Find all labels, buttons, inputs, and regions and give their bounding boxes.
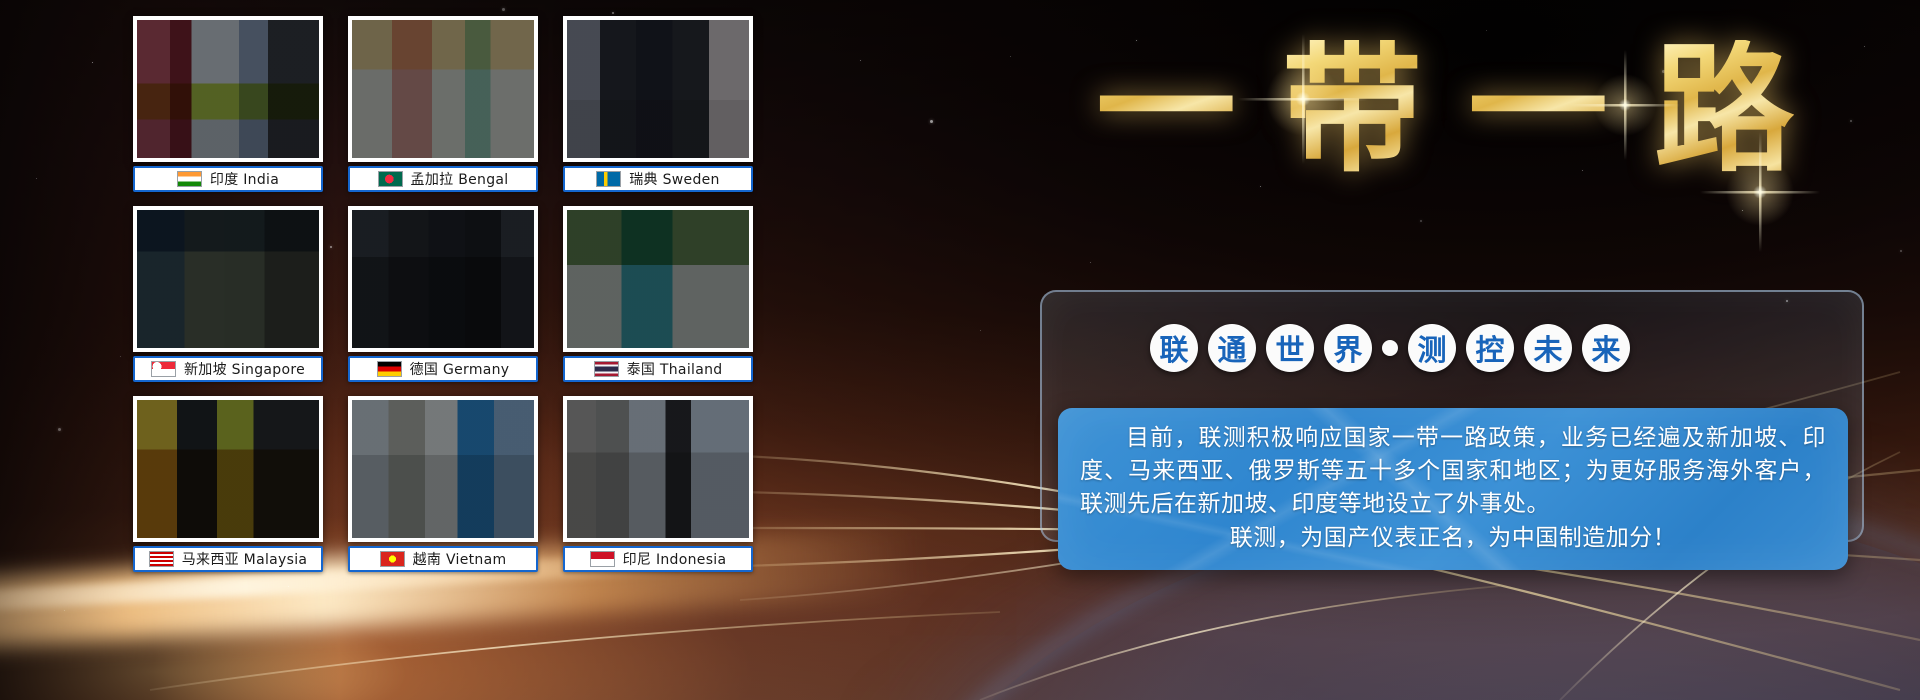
paragraph-1: 目前，联测积极响应国家一带一路政策，业务已经遍及新加坡、印度、马来西亚、俄罗斯等… — [1080, 422, 1826, 521]
photo-image — [567, 400, 749, 538]
headline-char-1: 一 — [1096, 40, 1236, 180]
partner-photo[interactable] — [563, 396, 753, 542]
partner-photo-grid: 印度 India孟加拉 Bengal瑞典 Sweden新加坡 Singapore… — [133, 16, 753, 584]
flag-malaysia-icon — [149, 551, 174, 567]
slogan-char-2: 通 — [1208, 324, 1256, 372]
flag-singapore-icon — [151, 361, 176, 377]
slogan-char-5: 测 — [1408, 324, 1456, 372]
slogan-char-3: 世 — [1266, 324, 1314, 372]
gallery-item[interactable]: 新加坡 Singapore — [133, 206, 323, 384]
company-slogan: 联通世界测控未来 — [1150, 324, 1630, 372]
photo-image — [567, 20, 749, 158]
country-caption-label: 新加坡 Singapore — [184, 359, 305, 379]
photo-image — [352, 20, 534, 158]
country-caption-label: 越南 Vietnam — [413, 549, 507, 569]
partner-photo[interactable] — [563, 206, 753, 352]
gallery-item[interactable]: 印度 India — [133, 16, 323, 194]
country-caption-label: 瑞典 Sweden — [629, 169, 719, 189]
gallery-item[interactable]: 孟加拉 Bengal — [348, 16, 538, 194]
photo-image — [567, 210, 749, 348]
gallery-item[interactable]: 越南 Vietnam — [348, 396, 538, 574]
photo-image — [352, 400, 534, 538]
country-caption-label: 德国 Germany — [410, 359, 510, 379]
flag-india-icon — [177, 171, 202, 187]
partner-photo[interactable] — [348, 16, 538, 162]
photo-image — [137, 20, 319, 158]
partner-photo[interactable] — [133, 206, 323, 352]
info-panel-blue: 目前，联测积极响应国家一带一路政策，业务已经遍及新加坡、印度、马来西亚、俄罗斯等… — [1058, 408, 1848, 570]
flag-germany-icon — [377, 361, 402, 377]
gallery-item[interactable]: 马来西亚 Malaysia — [133, 396, 323, 574]
slogan-char-1: 联 — [1150, 324, 1198, 372]
headline-char-3: 一 — [1468, 40, 1608, 180]
gallery-item[interactable]: 瑞典 Sweden — [563, 16, 753, 194]
info-panel-text: 目前，联测积极响应国家一带一路政策，业务已经遍及新加坡、印度、马来西亚、俄罗斯等… — [1080, 422, 1826, 555]
country-caption-label: 印尼 Indonesia — [623, 549, 727, 569]
flag-bangladesh-icon — [378, 171, 403, 187]
photo-image — [352, 210, 534, 348]
partner-photo[interactable] — [348, 396, 538, 542]
gallery-item[interactable]: 印尼 Indonesia — [563, 396, 753, 574]
partner-photo[interactable] — [133, 396, 323, 542]
country-caption[interactable]: 马来西亚 Malaysia — [133, 546, 323, 572]
headline-belt-and-road: 一 带 一 路 — [1010, 10, 1880, 210]
country-caption[interactable]: 印尼 Indonesia — [563, 546, 753, 572]
photo-image — [137, 400, 319, 538]
headline-char-2: 带 — [1282, 40, 1422, 180]
country-caption[interactable]: 泰国 Thailand — [563, 356, 753, 382]
country-caption-label: 孟加拉 Bengal — [411, 169, 509, 189]
paragraph-2: 联测，为国产仪表正名，为中国制造加分！ — [1080, 522, 1826, 555]
country-caption[interactable]: 印度 India — [133, 166, 323, 192]
slogan-char-7: 未 — [1524, 324, 1572, 372]
country-caption[interactable]: 德国 Germany — [348, 356, 538, 382]
slogan-char-6: 控 — [1466, 324, 1514, 372]
headline-char-4: 路 — [1654, 40, 1794, 180]
partner-photo[interactable] — [563, 16, 753, 162]
partner-photo[interactable] — [133, 16, 323, 162]
banner-root: 印度 India孟加拉 Bengal瑞典 Sweden新加坡 Singapore… — [0, 0, 1920, 700]
flag-thailand-icon — [594, 361, 619, 377]
slogan-separator-dot — [1382, 340, 1398, 356]
country-caption-label: 印度 India — [210, 169, 279, 189]
flag-vietnam-icon — [380, 551, 405, 567]
country-caption-label: 马来西亚 Malaysia — [182, 549, 308, 569]
partner-photo[interactable] — [348, 206, 538, 352]
country-caption[interactable]: 越南 Vietnam — [348, 546, 538, 572]
flag-sweden-icon — [596, 171, 621, 187]
gallery-item[interactable]: 德国 Germany — [348, 206, 538, 384]
country-caption[interactable]: 新加坡 Singapore — [133, 356, 323, 382]
photo-image — [137, 210, 319, 348]
country-caption[interactable]: 瑞典 Sweden — [563, 166, 753, 192]
flag-indonesia-icon — [590, 551, 615, 567]
country-caption-label: 泰国 Thailand — [627, 359, 723, 379]
slogan-char-8: 来 — [1582, 324, 1630, 372]
gallery-item[interactable]: 泰国 Thailand — [563, 206, 753, 384]
slogan-char-4: 界 — [1324, 324, 1372, 372]
country-caption[interactable]: 孟加拉 Bengal — [348, 166, 538, 192]
